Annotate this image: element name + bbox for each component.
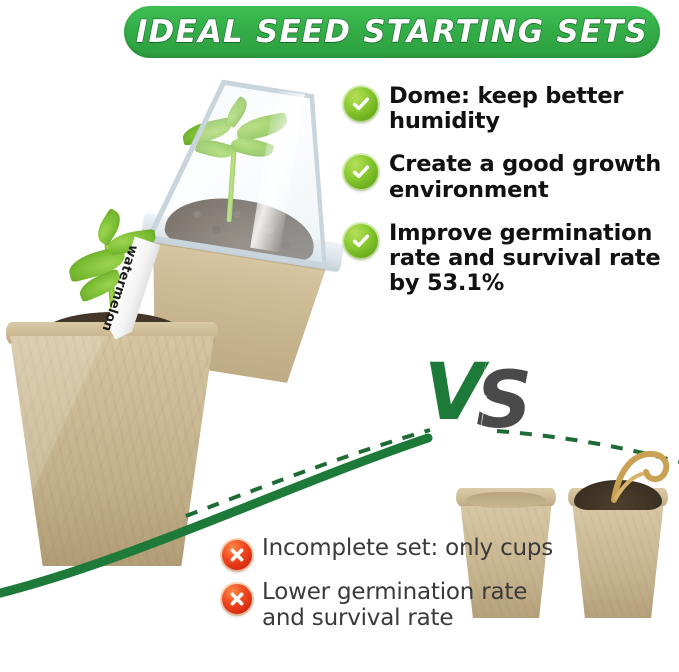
cons-list-item: Lower germination rate and survival rate: [222, 580, 572, 632]
pros-item-label: Create a good growth environment: [389, 152, 679, 202]
versus-graphic: V S: [424, 348, 564, 440]
cons-item-label: Lower germination rate and survival rate: [262, 580, 572, 632]
cons-list-item: Incomplete set: only cups: [222, 536, 572, 570]
cons-item-label: Incomplete set: only cups: [262, 536, 553, 562]
header-banner: IDEAL SEED STARTING SETS: [124, 6, 660, 58]
pros-list-item: Dome: keep better humidity: [344, 84, 679, 134]
peat-pot-with-withered-seedling: [568, 488, 668, 624]
page-title: IDEAL SEED STARTING SETS: [136, 17, 648, 48]
pros-list-item: Improve germination rate and survival ra…: [344, 221, 679, 297]
red-x-icon: [222, 540, 252, 570]
infographic-canvas: IDEAL SEED STARTING SETS watermelon: [0, 0, 679, 672]
pros-item-label: Dome: keep better humidity: [389, 84, 679, 134]
green-check-icon: [344, 87, 378, 121]
red-x-icon: [222, 584, 252, 614]
pros-item-label: Improve germination rate and survival ra…: [389, 221, 679, 297]
withered-seedling-icon: [576, 448, 679, 504]
cons-list: Incomplete set: only cups Lower germinat…: [222, 536, 572, 642]
versus-v-letter: V: [424, 354, 480, 432]
green-check-icon: [344, 224, 378, 258]
pros-list: Dome: keep better humidity Create a good…: [344, 84, 679, 314]
green-check-icon: [344, 155, 378, 189]
pros-list-item: Create a good growth environment: [344, 152, 679, 202]
pot-body: [572, 500, 664, 618]
pot-interior: [466, 492, 546, 508]
